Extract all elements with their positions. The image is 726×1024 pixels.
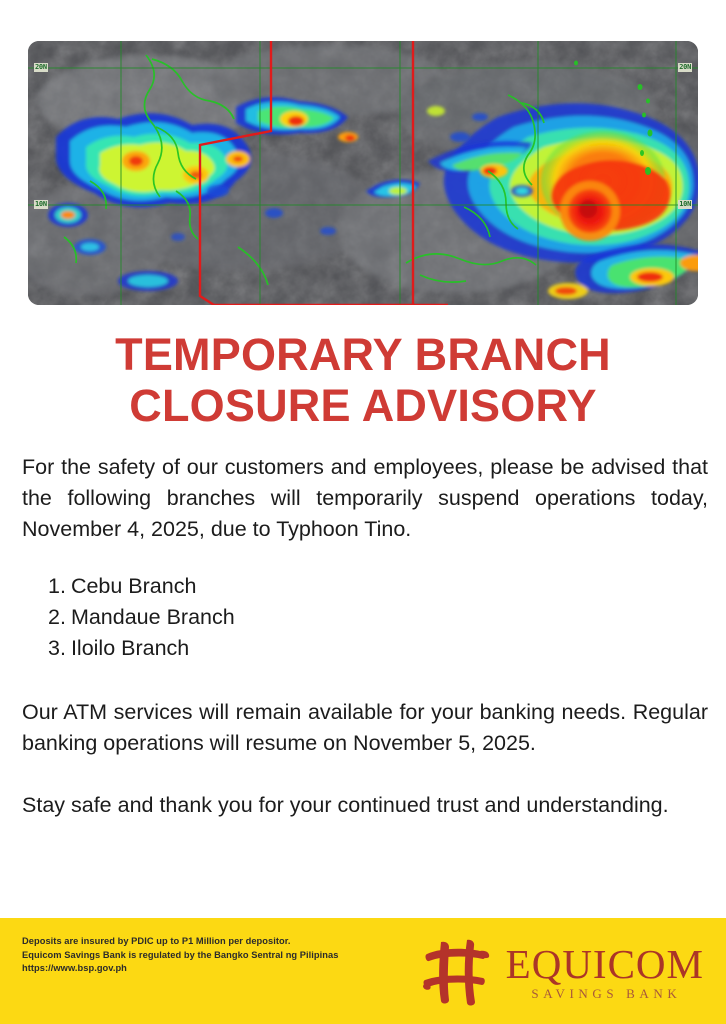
advisory-poster: 20N 10N 20N 10N TEMPORARY BRANCH CLOSURE…: [0, 0, 726, 1024]
latitude-label-20n-left: 20N: [34, 63, 48, 72]
closed-branch-list: 1.Cebu Branch 2.Mandaue Branch 3.Iloilo …: [22, 571, 708, 664]
equicom-logo: EQUICOM SAVINGS BANK: [420, 930, 704, 1012]
list-item: 1.Cebu Branch: [48, 571, 708, 602]
equicom-hash-mark-icon: [420, 934, 494, 1008]
footer-band: Deposits are insured by PDIC up to P1 Mi…: [0, 918, 726, 1024]
list-item: 2.Mandaue Branch: [48, 602, 708, 633]
latitude-label-20n-right: 20N: [678, 63, 692, 72]
satellite-radar-graphic: [28, 41, 698, 305]
branch-name: Mandaue Branch: [71, 605, 235, 629]
advisory-paragraph-3: Stay safe and thank you for your continu…: [22, 790, 708, 821]
branch-number: 2.: [48, 605, 66, 629]
latitude-label-10n-left: 10N: [34, 200, 48, 209]
branch-number: 1.: [48, 574, 66, 598]
bsp-website-link[interactable]: https://www.bsp.gov.ph: [22, 962, 338, 976]
latitude-label-10n-right: 10N: [678, 200, 692, 209]
title-line-1: TEMPORARY BRANCH: [0, 329, 726, 380]
branch-name: Cebu Branch: [71, 574, 197, 598]
list-item: 3.Iloilo Branch: [48, 633, 708, 664]
advisory-paragraph-1: For the safety of our customers and empl…: [22, 452, 708, 545]
typhoon-satellite-image: 20N 10N 20N 10N: [28, 41, 698, 305]
branch-number: 3.: [48, 636, 66, 660]
disclaimer-line-1: Deposits are insured by PDIC up to P1 Mi…: [22, 935, 338, 949]
advisory-body: For the safety of our customers and empl…: [22, 452, 708, 821]
hash-brushstroke-glyph: [420, 934, 494, 1008]
page-title: TEMPORARY BRANCH CLOSURE ADVISORY: [0, 329, 726, 431]
disclaimer-line-2: Equicom Savings Bank is regulated by the…: [22, 949, 338, 963]
footer-disclaimer: Deposits are insured by PDIC up to P1 Mi…: [22, 935, 338, 976]
brand-name: EQUICOM: [506, 943, 704, 985]
equicom-wordmark: EQUICOM SAVINGS BANK: [506, 941, 704, 1002]
branch-name: Iloilo Branch: [71, 636, 189, 660]
advisory-paragraph-2: Our ATM services will remain available f…: [22, 697, 708, 759]
brand-subtitle: SAVINGS BANK: [506, 986, 704, 1002]
title-line-2: CLOSURE ADVISORY: [0, 380, 726, 431]
